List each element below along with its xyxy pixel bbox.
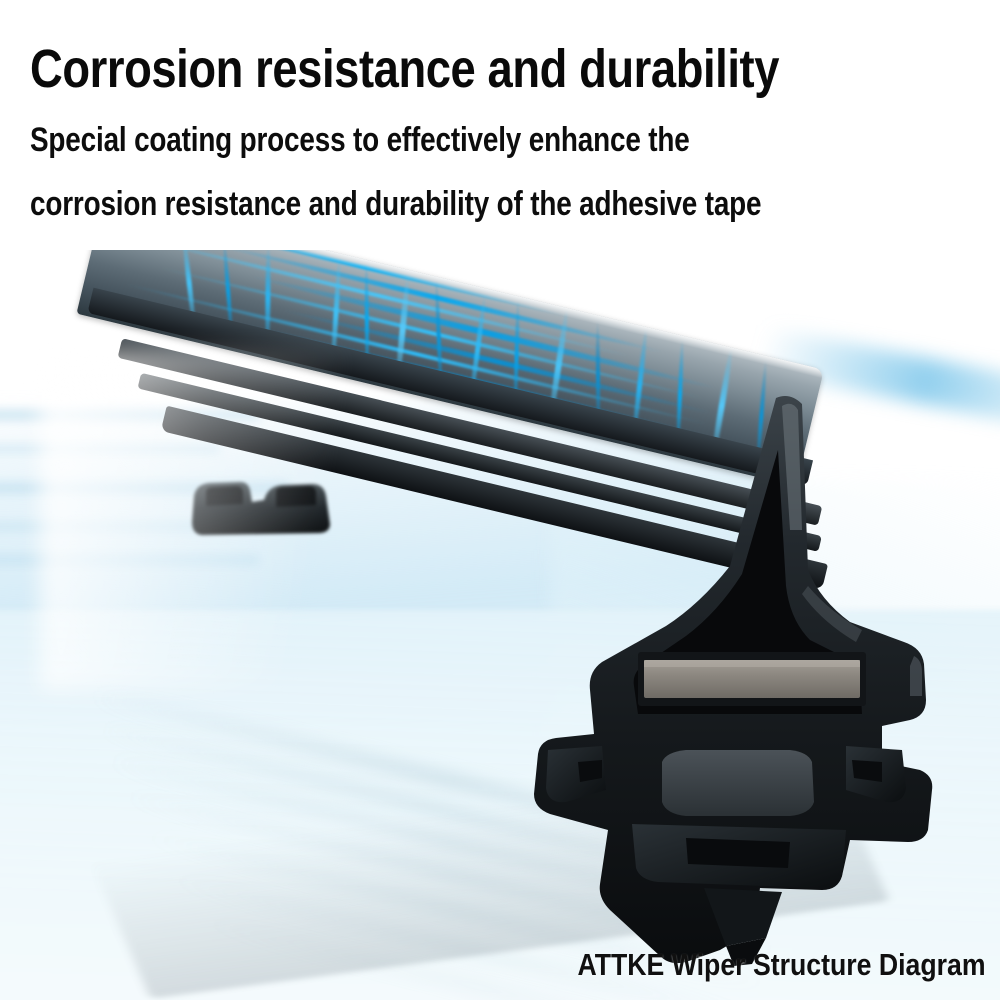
product-feature-graphic: Corrosion resistance and durability Spec… [0,0,1000,1000]
diagram-caption: ATTKE Wiper Structure Diagram [578,948,986,982]
subtitle-line-1: Special coating process to effectively e… [30,122,690,158]
product-illustration [0,250,1000,1000]
subtitle-line-2: corrosion resistance and durability of t… [30,186,761,222]
lower-hinge-tier [632,824,846,888]
steel-flexor-strip [638,652,866,706]
wiper-blade-assembly [60,310,940,1000]
coated-adhesive-tape [662,750,814,816]
page-title: Corrosion resistance and durability [30,40,779,98]
connector-claw-icon [188,478,338,536]
blade-cross-section [490,390,960,1000]
